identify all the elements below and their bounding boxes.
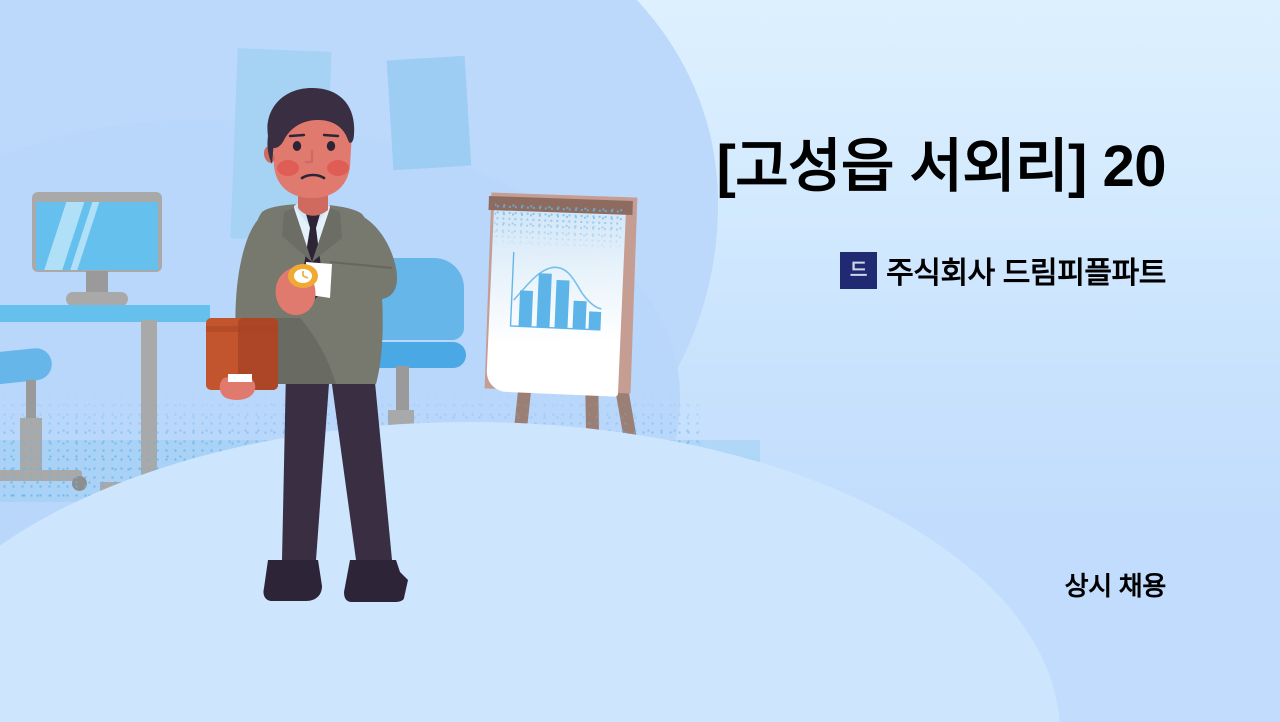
page-title: [고성읍 서외리] 20 [306,133,1166,201]
job-posting-banner: [고성읍 서외리] 20 드 주식회사 드림피플파트 상시 채용 [0,0,1280,722]
text-overlay: [고성읍 서외리] 20 드 주식회사 드림피플파트 상시 채용 [0,0,1280,722]
company-row: 드 주식회사 드림피플파트 [840,248,1166,292]
company-name: 주식회사 드림피플파트 [886,248,1166,292]
recruit-type-label: 상시 채용 [1065,566,1166,603]
company-logo-badge: 드 [840,252,877,289]
